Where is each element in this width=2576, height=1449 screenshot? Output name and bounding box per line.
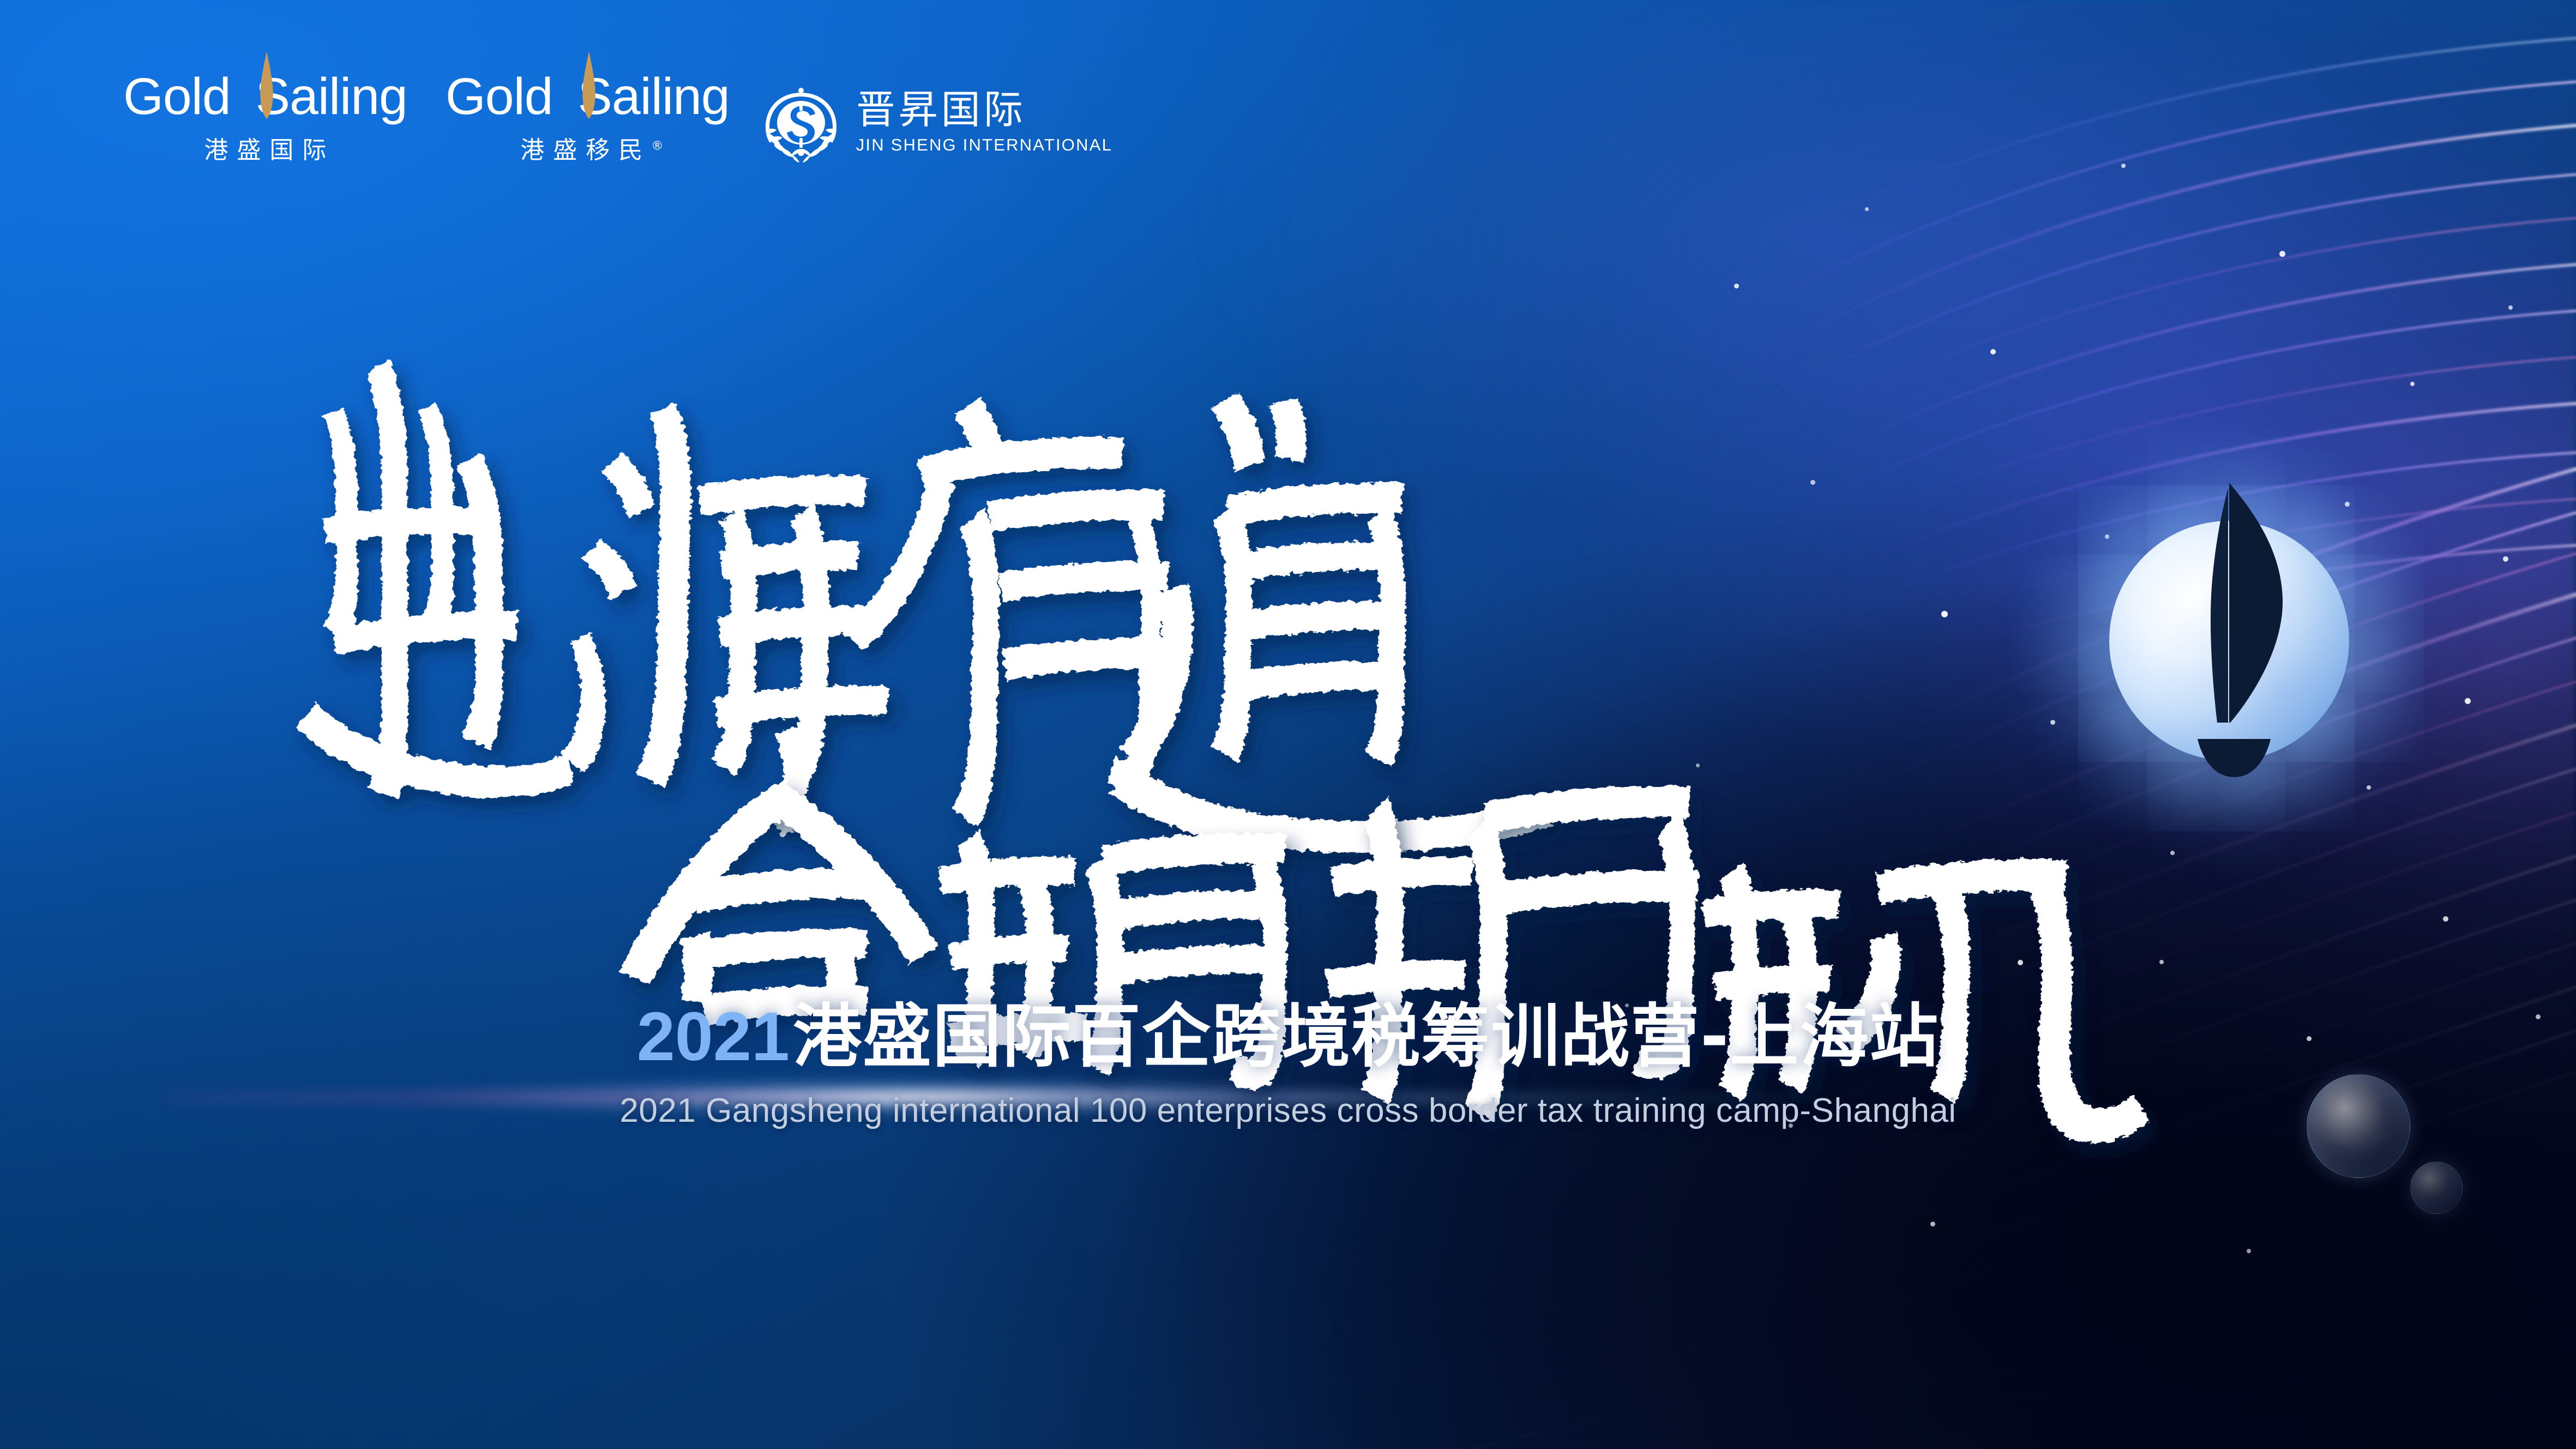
logo-gold-sailing-international[interactable]: Gold Sailing 港盛国际 [123, 71, 407, 165]
logo-chinese-name: 港盛国际 [195, 130, 335, 165]
sailboat-silhouette-icon [2147, 483, 2311, 788]
logo-gold-sailing-immigration[interactable]: Gold Sailing 港盛移民® [446, 71, 730, 165]
glow-bubble-small [2410, 1162, 2463, 1214]
registered-trademark-icon: ® [651, 139, 663, 153]
event-banner: Gold Sailing 港盛国际 Gold Sailing 港盛移民® [0, 0, 2576, 1449]
jinsheng-english-name: JIN SHENG INTERNATIONAL [856, 135, 1112, 155]
jinsheng-s-wreath-emblem-icon [760, 81, 842, 163]
logo-chinese-name: 港盛移民® [511, 130, 663, 165]
subtitle-chinese-text: 港盛国际百企跨境税筹训战营-上海站 [793, 996, 1939, 1077]
logo-word-sailing: Sailing [578, 71, 730, 123]
logo-jin-sheng-international[interactable]: 晋昇国际 JIN SHENG INTERNATIONAL [760, 81, 1112, 163]
logo-word-sailing: Sailing [256, 71, 407, 123]
logo-wordmark: Gold Sailing [446, 71, 730, 123]
logo-word-gold: Gold [123, 71, 231, 123]
logo-wordmark: Gold Sailing [123, 71, 407, 123]
logo-word-gold: Gold [446, 71, 553, 123]
subtitle-english: 2021 Gangsheng international 100 enterpr… [619, 1094, 1956, 1128]
subtitle-year: 2021 [637, 998, 790, 1075]
glow-bubble-large [2307, 1074, 2410, 1178]
main-title-calligraphy [262, 322, 1690, 998]
logo-bar: Gold Sailing 港盛国际 Gold Sailing 港盛移民® [123, 71, 1112, 165]
subtitle-chinese: 2021港盛国际百企跨境税筹训战营-上海站 [637, 1002, 1940, 1071]
jinsheng-chinese-name: 晋昇国际 [856, 89, 1112, 131]
